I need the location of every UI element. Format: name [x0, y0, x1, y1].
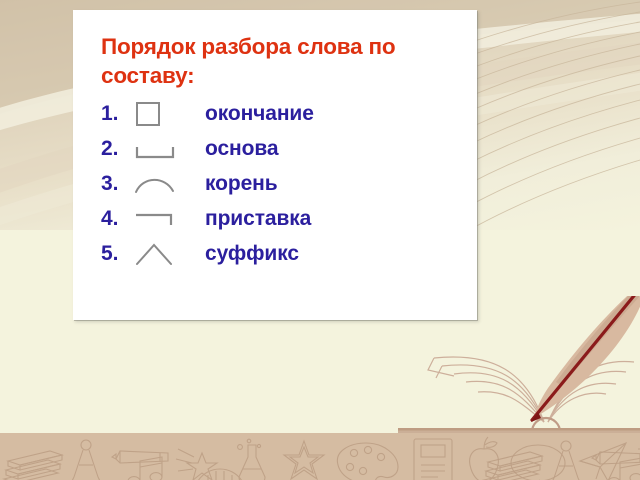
- list-item-label: основа: [205, 138, 278, 159]
- list-item: 2. основа: [101, 131, 463, 166]
- stem-bracket-icon: [133, 133, 205, 165]
- list-item-label: окончание: [205, 103, 314, 124]
- list-item-number: 2.: [101, 138, 133, 159]
- list-item: 3. корень: [101, 166, 463, 201]
- page-title: Порядок разбора слова по составу:: [101, 32, 401, 90]
- prefix-corner-icon: [133, 203, 205, 235]
- card-inner: Порядок разбора слова по составу: 1. око…: [101, 32, 463, 271]
- list-item-number: 4.: [101, 208, 133, 229]
- list-item-label: приставка: [205, 208, 311, 229]
- background-doodle-strip: [0, 433, 640, 480]
- content-card: Порядок разбора слова по составу: 1. око…: [73, 10, 477, 320]
- open-book-icon: [434, 357, 544, 422]
- page-title-line-2: составу:: [101, 61, 401, 90]
- list-item-label: суффикс: [205, 243, 299, 264]
- list-item: 5. суффикс: [101, 236, 463, 271]
- suffix-caret-icon: [133, 238, 205, 270]
- root-arc-icon: [133, 168, 205, 200]
- list-item-number: 3.: [101, 173, 133, 194]
- list-item-number: 5.: [101, 243, 133, 264]
- morpheme-order-list: 1. окончание 2. основа: [101, 96, 463, 271]
- list-item: 4. приставка: [101, 201, 463, 236]
- feather-quill-icon: [531, 296, 640, 422]
- school-supplies-doodles: [0, 433, 640, 480]
- square-ending-icon: [133, 98, 205, 130]
- page-title-line-1: Порядок разбора слова по: [101, 32, 401, 61]
- slide-canvas: Порядок разбора слова по составу: 1. око…: [0, 0, 640, 480]
- list-item-number: 1.: [101, 103, 133, 124]
- list-item: 1. окончание: [101, 96, 463, 131]
- list-item-label: корень: [205, 173, 278, 194]
